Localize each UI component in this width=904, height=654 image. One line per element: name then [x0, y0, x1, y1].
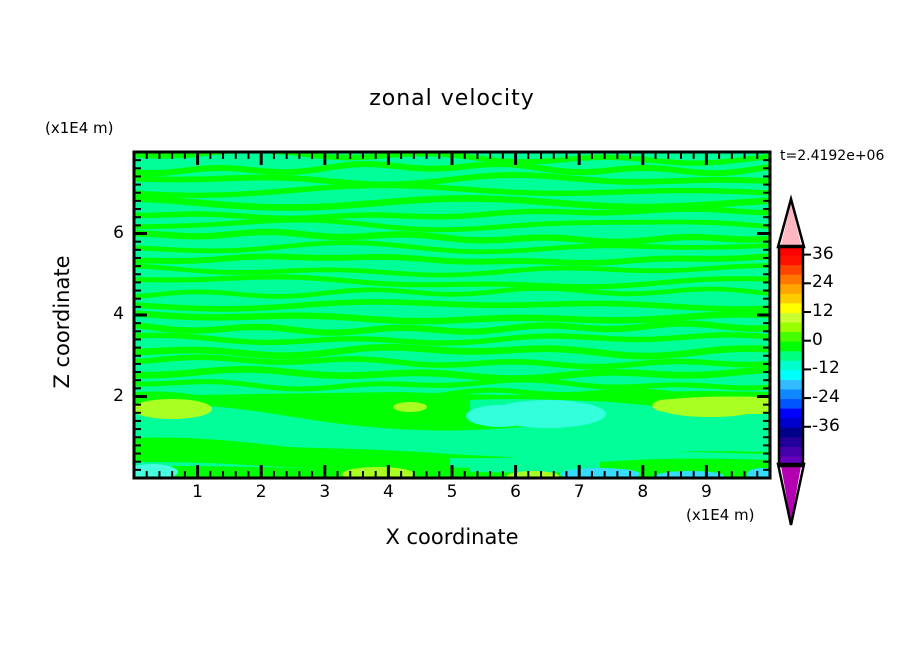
colorbar-tick-label: 24 [812, 272, 834, 292]
colorbar-band [779, 409, 803, 419]
colorbar-band [779, 447, 803, 457]
colorbar-band [779, 275, 803, 285]
colorbar-band [779, 256, 803, 266]
colorbar[interactable] [778, 199, 811, 525]
colorbar-band [779, 437, 803, 447]
colorbar-tick-label: -12 [812, 358, 840, 378]
colorbar-band [779, 303, 803, 313]
colorbar-band [779, 332, 803, 342]
colorbar-band [779, 428, 803, 438]
x-tick-label: 2 [241, 482, 281, 502]
y-tick-label: 4 [84, 304, 124, 324]
colorbar-band [779, 380, 803, 390]
colorbar-band [779, 284, 803, 294]
colorbar-tick-label: 0 [812, 330, 823, 350]
x-tick-label: 8 [623, 482, 663, 502]
x-tick-label: 9 [686, 482, 726, 502]
colorbar-tick-label: 12 [812, 301, 834, 321]
x-tick-label: 3 [305, 482, 345, 502]
contour-field [126, 148, 779, 481]
y-tick-label: 6 [84, 223, 124, 243]
colorbar-tick-label: -24 [812, 387, 840, 407]
x-tick-label: 7 [559, 482, 599, 502]
colorbar-band [779, 418, 803, 428]
colorbar-band [779, 265, 803, 275]
x-tick-label: 4 [368, 482, 408, 502]
colorbar-band [779, 389, 803, 399]
colorbar-band [779, 294, 803, 304]
figure-canvas: zonal velocity (x1E4 m) (x1E4 m) X coord… [0, 0, 904, 654]
colorbar-band [779, 351, 803, 361]
colorbar-band [779, 399, 803, 409]
colorbar-tick-label: 36 [812, 244, 834, 264]
x-tick-label: 1 [178, 482, 218, 502]
colorbar-band [779, 361, 803, 371]
colorbar-band [779, 370, 803, 380]
colorbar-band [779, 323, 803, 333]
x-tick-label: 5 [432, 482, 472, 502]
colorbar-bands [779, 246, 803, 467]
colorbar-band [779, 342, 803, 352]
x-tick-label: 6 [496, 482, 536, 502]
colorbar-band [779, 313, 803, 323]
colorbar-tick-label: -36 [812, 416, 840, 436]
contour-plot [0, 0, 904, 654]
y-tick-label: 2 [84, 386, 124, 406]
